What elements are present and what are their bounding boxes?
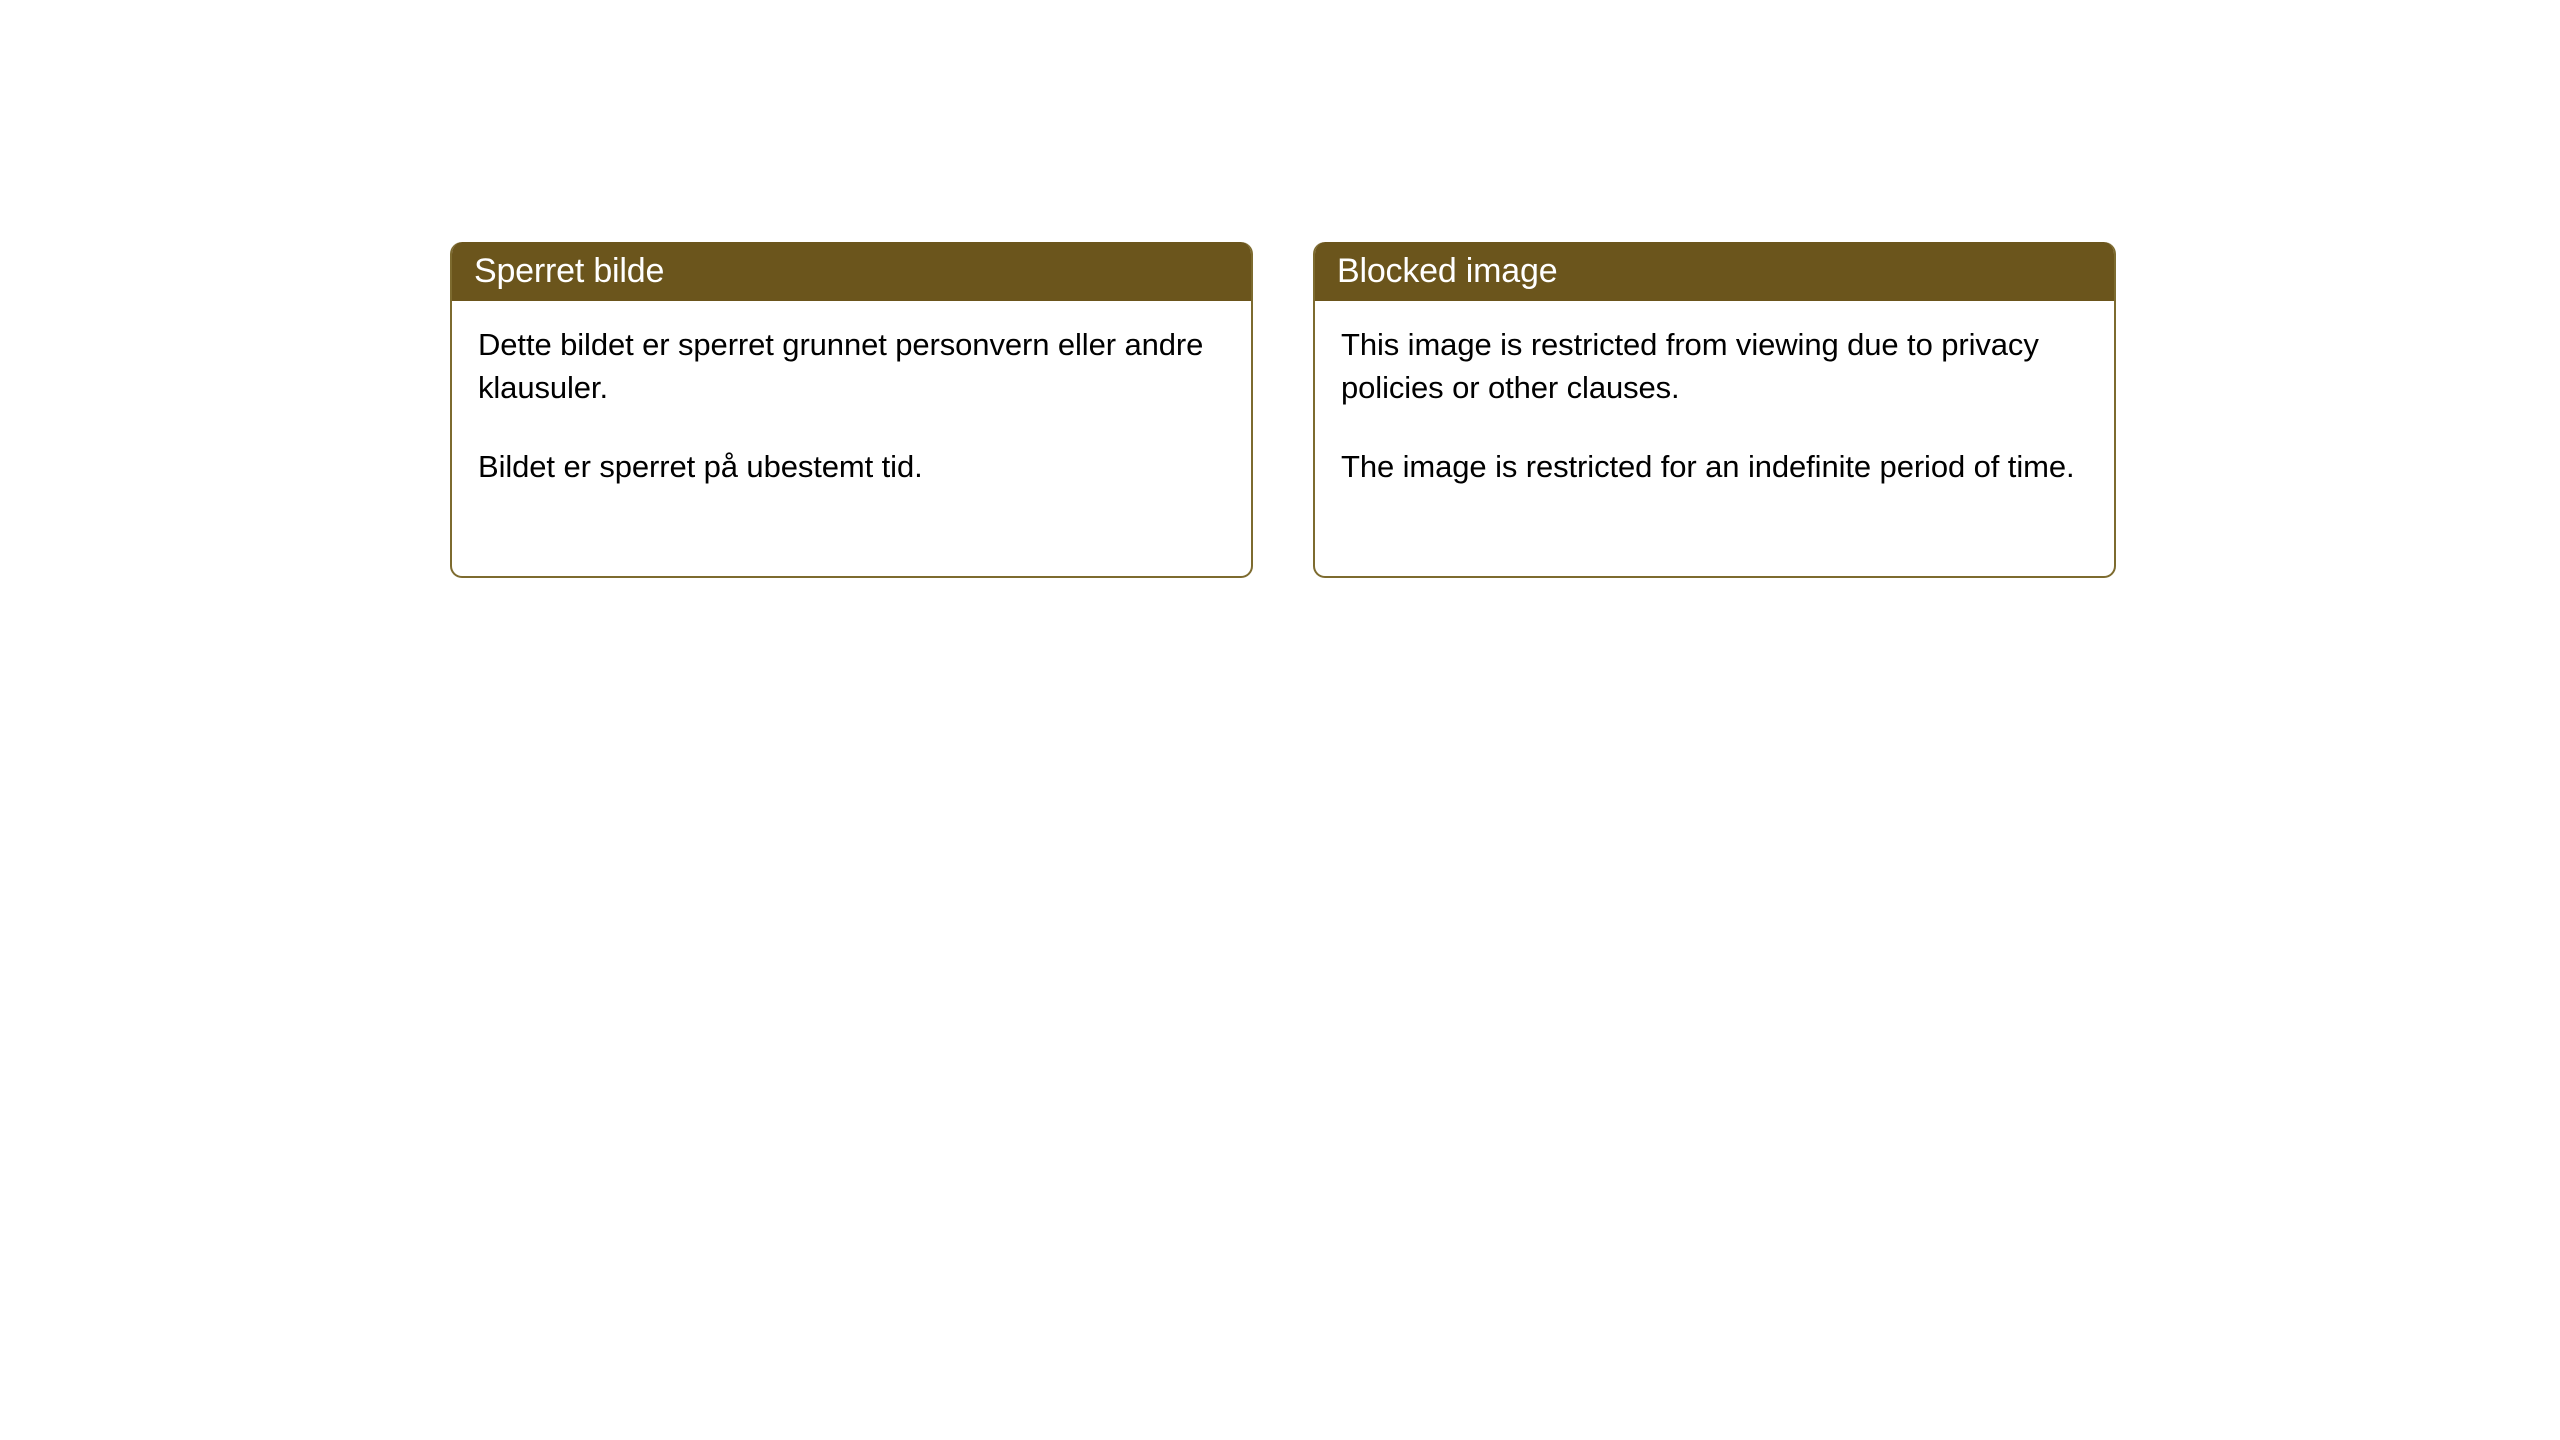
- panel-body-en: This image is restricted from viewing du…: [1315, 301, 2114, 576]
- panel-paragraph-no-1: Dette bildet er sperret grunnet personve…: [478, 323, 1225, 409]
- panel-header-no: Sperret bilde: [450, 242, 1253, 301]
- panel-body-no: Dette bildet er sperret grunnet personve…: [452, 301, 1251, 576]
- panel-paragraph-en-2: The image is restricted for an indefinit…: [1341, 445, 2088, 488]
- blocked-image-panel-no: Sperret bilde Dette bildet er sperret gr…: [450, 242, 1253, 578]
- panel-paragraph-no-2: Bildet er sperret på ubestemt tid.: [478, 445, 1225, 488]
- panel-paragraph-en-1: This image is restricted from viewing du…: [1341, 323, 2088, 409]
- panel-title-no: Sperret bilde: [474, 251, 664, 291]
- panel-header-en: Blocked image: [1313, 242, 2116, 301]
- blocked-image-panel-en: Blocked image This image is restricted f…: [1313, 242, 2116, 578]
- blocked-image-notice-group: Sperret bilde Dette bildet er sperret gr…: [450, 242, 2116, 578]
- page-canvas: Sperret bilde Dette bildet er sperret gr…: [0, 0, 2560, 1440]
- panel-title-en: Blocked image: [1337, 251, 1557, 291]
